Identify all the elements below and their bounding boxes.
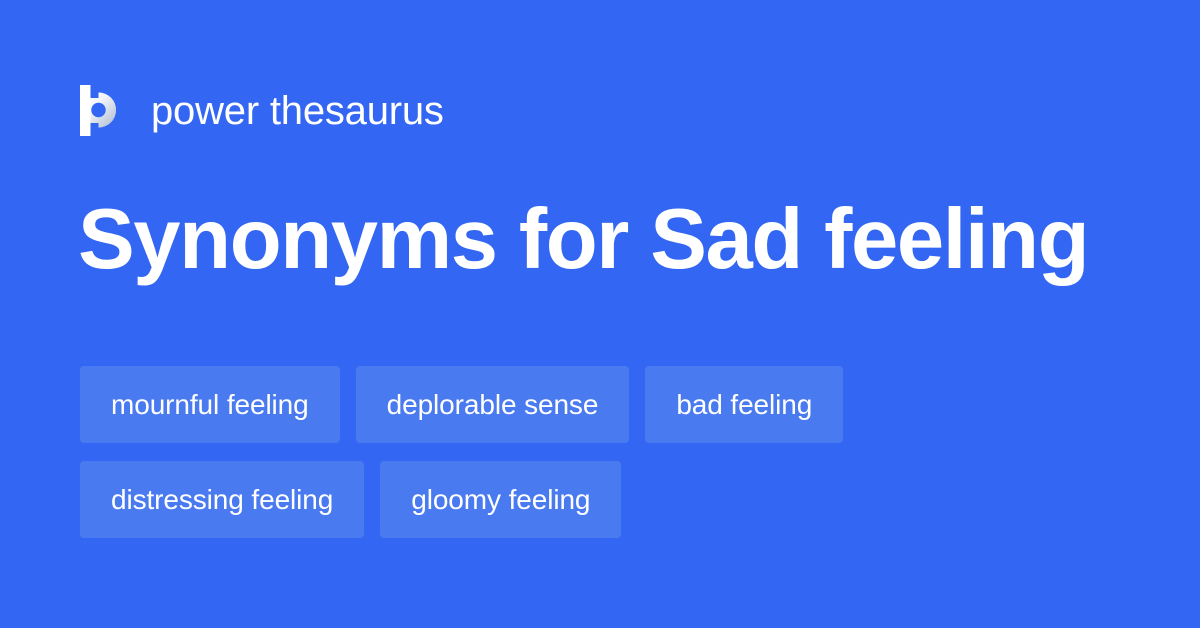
synonym-chip[interactable]: distressing feeling xyxy=(80,461,364,538)
page-title: Synonyms for Sad feeling xyxy=(78,197,1088,282)
brand-name: power thesaurus xyxy=(151,91,444,131)
share-card: power thesaurus Synonyms for Sad feeling… xyxy=(0,0,1200,628)
synonym-chip[interactable]: bad feeling xyxy=(645,366,843,443)
synonym-chip[interactable]: mournful feeling xyxy=(80,366,340,443)
synonym-chip[interactable]: deplorable sense xyxy=(356,366,630,443)
brand-lockup[interactable]: power thesaurus xyxy=(80,82,444,138)
synonym-list: mournful feeling deplorable sense bad fe… xyxy=(80,366,1120,538)
synonym-chip[interactable]: gloomy feeling xyxy=(380,461,621,538)
power-thesaurus-b-logo-icon xyxy=(80,85,124,136)
